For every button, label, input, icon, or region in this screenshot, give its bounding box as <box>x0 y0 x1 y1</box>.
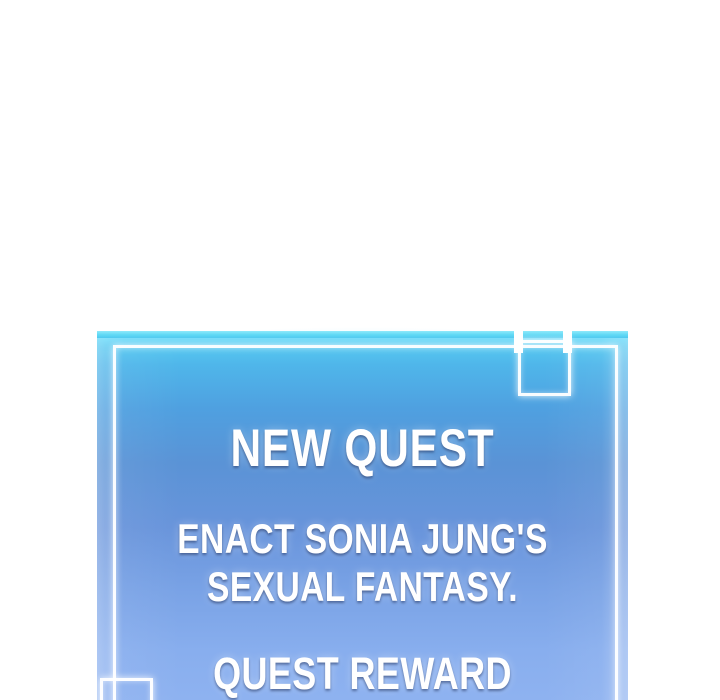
new-quest-panel: NEW QUEST ENACT SONIA JUNG'S SEXUAL FANT… <box>97 331 628 700</box>
comic-page: NEW QUEST ENACT SONIA JUNG'S SEXUAL FANT… <box>0 0 720 700</box>
panel-gradient-fill <box>97 331 628 700</box>
white-gutter <box>0 0 720 331</box>
